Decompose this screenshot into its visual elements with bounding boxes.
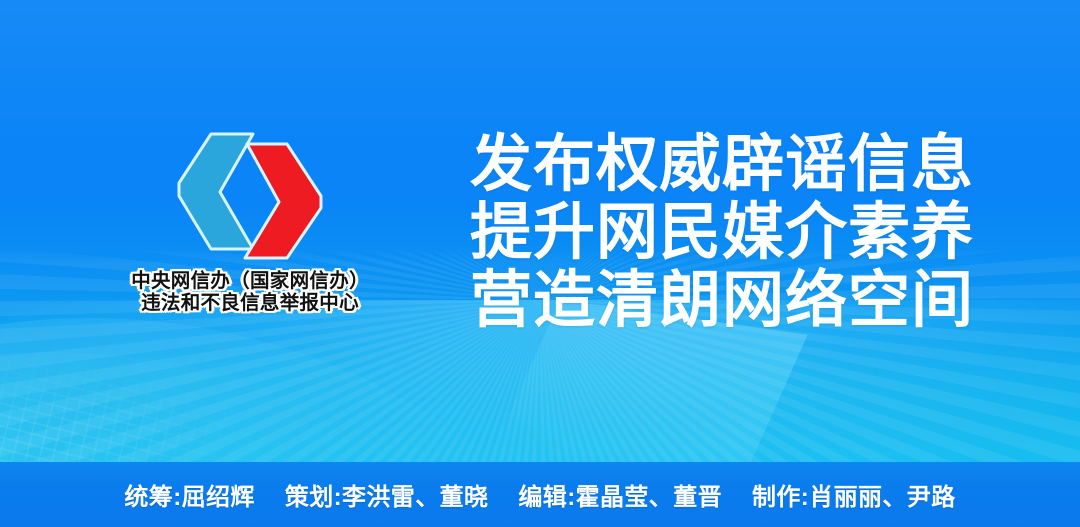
logo-caption: 中央网信办（国家网信办） 违法和不良信息举报中心: [96, 270, 404, 314]
promotional-banner: 中央网信办（国家网信办） 违法和不良信息举报中心 发布权威辟谣信息 提升网民媒介…: [0, 0, 1080, 527]
headline-line-3: 营造清朗网络空间: [470, 267, 990, 335]
credit-editor: 编辑:霍晶莹、董晋: [518, 477, 722, 512]
headline-line-1: 发布权威辟谣信息: [470, 131, 990, 199]
logo-caption-line-2: 违法和不良信息举报中心: [96, 292, 404, 314]
credits-bar: 统筹:屈绍辉 策划:李洪雷、董晓 编辑:霍晶莹、董晋 制作:肖丽丽、尹路: [0, 462, 1080, 527]
credit-producer: 制作:肖丽丽、尹路: [752, 477, 956, 512]
credits-list: 统筹:屈绍辉 策划:李洪雷、董晓 编辑:霍晶莹、董晋 制作:肖丽丽、尹路: [124, 477, 955, 512]
logo-block: 中央网信办（国家网信办） 违法和不良信息举报中心: [96, 128, 404, 314]
headline-line-2: 提升网民媒介素养: [470, 199, 990, 267]
grid-mesh-texture: [0, 356, 330, 476]
reporting-center-logo-icon: [175, 128, 325, 264]
credit-coordinator: 统筹:屈绍辉: [124, 477, 254, 512]
headline: 发布权威辟谣信息 提升网民媒介素养 营造清朗网络空间: [470, 131, 990, 335]
logo-caption-line-1: 中央网信办（国家网信办）: [96, 270, 404, 292]
credit-planner: 策划:李洪雷、董晓: [285, 477, 489, 512]
